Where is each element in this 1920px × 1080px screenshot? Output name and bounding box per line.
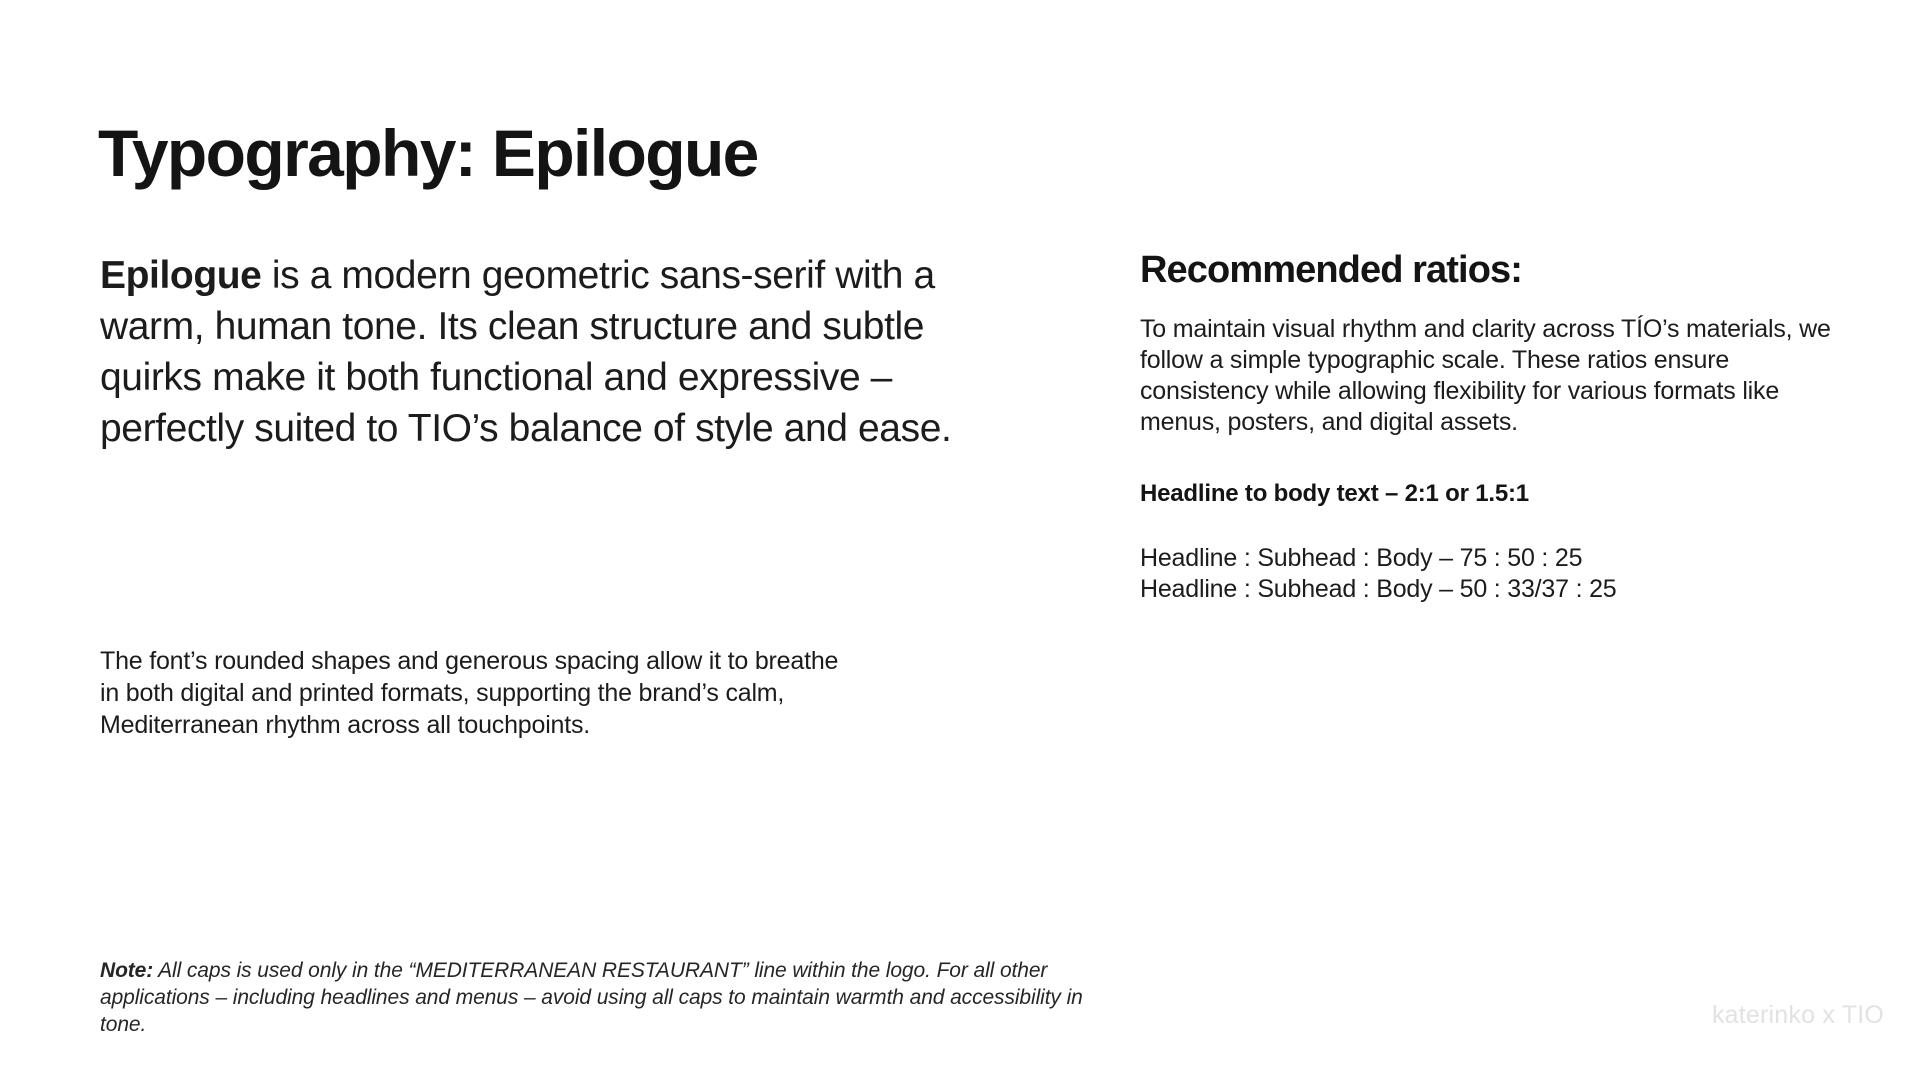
headline-to-body-rule: Headline to body text – 2:1 or 1.5:1 [1140, 478, 1860, 509]
recommended-ratios-intro: To maintain visual rhythm and clarity ac… [1140, 314, 1860, 438]
page-title: Typography: Epilogue [98, 119, 758, 188]
left-column: Epilogue is a modern geometric sans-seri… [100, 250, 1000, 454]
right-column: Recommended ratios: To maintain visual r… [1140, 250, 1860, 605]
footnote-label: Note: [100, 959, 153, 982]
slide-canvas: Typography: Epilogue Epilogue is a moder… [0, 0, 1920, 1080]
lead-paragraph: Epilogue is a modern geometric sans-seri… [100, 250, 1000, 454]
ratio-list-item: Headline : Subhead : Body – 50 : 33/37 :… [1140, 574, 1860, 605]
recommended-ratios-heading: Recommended ratios: [1140, 250, 1860, 292]
footnote-text-before: All caps is used only in the “ [153, 959, 415, 982]
footnote-caps-sample: MEDITERRANEAN RESTAURANT [415, 959, 741, 982]
ratio-list-item: Headline : Subhead : Body – 75 : 50 : 25 [1140, 543, 1860, 574]
ratio-list: Headline : Subhead : Body – 75 : 50 : 25… [1140, 543, 1860, 605]
lead-paragraph-emphasis: Epilogue [100, 254, 261, 297]
support-paragraph: The font’s rounded shapes and generous s… [100, 645, 860, 741]
watermark: katerinko x TIO [1712, 1001, 1884, 1030]
footnote: Note: All caps is used only in the “MEDI… [100, 957, 1120, 1038]
